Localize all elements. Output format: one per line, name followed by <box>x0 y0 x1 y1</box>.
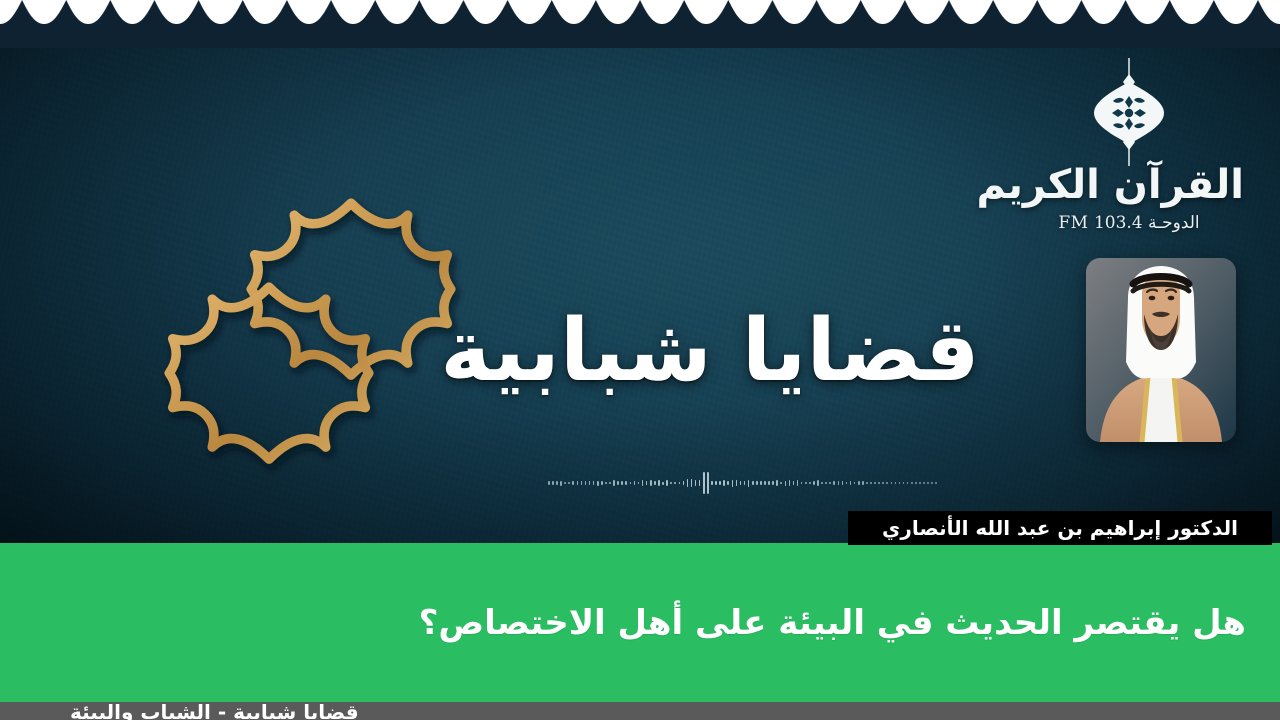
waveform-bar <box>609 482 611 484</box>
waveform-bar <box>691 479 693 487</box>
guest-name: الدكتور إبراهيم بن عبد الله الأنصاري <box>882 516 1238 540</box>
waveform-bar <box>748 480 750 487</box>
waveform-bar <box>874 482 876 484</box>
waveform-bar <box>801 482 803 484</box>
waveform-bar <box>646 481 648 484</box>
waveform-bar <box>577 481 579 485</box>
islamic-arch-border-icon <box>0 0 1280 48</box>
waveform-bar <box>846 482 848 484</box>
waveform-bar <box>727 481 729 486</box>
waveform-bar <box>589 481 591 485</box>
waveform-bar <box>931 482 933 483</box>
waveform-bar <box>670 482 672 484</box>
waveform-bar <box>560 481 562 486</box>
waveform-bar <box>838 481 840 484</box>
waveform-bar <box>552 481 554 486</box>
waveform-bar <box>662 482 664 485</box>
waveform-bar <box>548 481 550 485</box>
question-text: هل يقتصر الحديث في البيئة على أهل الاختص… <box>419 603 1280 643</box>
waveform-bar <box>772 481 774 485</box>
waveform-bar <box>842 481 844 485</box>
waveform-bar <box>654 481 656 486</box>
waveform-bar <box>625 481 627 485</box>
station-name: القرآن الكريم <box>1014 164 1244 206</box>
waveform-bar <box>809 482 811 484</box>
waveform-bar <box>821 482 823 485</box>
waveform-bar <box>695 480 697 487</box>
waveform-bar <box>854 482 856 484</box>
waveform-bar <box>858 481 860 485</box>
waveform-bar <box>564 482 566 484</box>
waveform-bar <box>744 481 746 484</box>
waveform-bar <box>732 480 734 487</box>
waveform-bar <box>703 472 705 494</box>
waveform-bar <box>829 482 831 485</box>
waveform-bar <box>935 482 937 483</box>
waveform-bar <box>903 482 905 483</box>
waveform-bar <box>899 482 901 484</box>
audio-waveform-icon <box>548 470 938 496</box>
station-frequency: الدوحـة 103.4 FM <box>1014 213 1244 233</box>
waveform-bar <box>891 482 893 483</box>
footer-bar: قضايا شبابية - الشباب والبيئة <box>0 702 1280 720</box>
waveform-bar <box>585 481 587 485</box>
waveform-bar <box>699 480 701 486</box>
waveform-bar <box>797 480 799 486</box>
video-stage: قضايا شبابية <box>0 0 1280 543</box>
waveform-bar <box>878 482 880 484</box>
waveform-bar <box>789 480 791 486</box>
waveform-bar <box>556 481 558 486</box>
waveform-bar <box>911 482 913 483</box>
waveform-bar <box>605 482 607 484</box>
show-title: قضايا شبابية <box>430 296 990 406</box>
waveform-bar <box>642 480 644 487</box>
waveform-bar <box>630 482 632 484</box>
waveform-bar <box>866 482 868 484</box>
arabesque-medallion-icon <box>1014 56 1244 168</box>
waveform-bar <box>581 481 583 484</box>
waveform-bar <box>756 481 758 486</box>
waveform-bar <box>715 481 717 486</box>
waveform-bar <box>736 480 738 486</box>
waveform-bar <box>805 482 807 485</box>
waveform-bar <box>679 482 681 484</box>
station-logo: القرآن الكريم الدوحـة 103.4 FM <box>1014 56 1244 233</box>
waveform-bar <box>621 481 623 486</box>
waveform-bar <box>687 479 689 486</box>
waveform-bar <box>752 481 754 485</box>
waveform-bar <box>740 481 742 485</box>
waveform-bar <box>666 480 668 485</box>
waveform-bar <box>862 481 864 485</box>
guest-portrait <box>1086 258 1236 442</box>
waveform-bar <box>613 480 615 486</box>
waveform-bar <box>760 481 762 485</box>
waveform-bar <box>674 482 676 485</box>
waveform-bar <box>813 481 815 485</box>
footer-label: قضايا شبابية - الشباب والبيئة <box>40 702 359 720</box>
waveform-bar <box>707 472 709 494</box>
waveform-bar <box>601 481 603 485</box>
broadcast-screen: قضايا شبابية <box>0 0 1280 720</box>
waveform-bar <box>895 482 897 484</box>
waveform-bar <box>568 482 570 485</box>
waveform-bar <box>833 481 835 486</box>
waveform-bar <box>927 482 929 483</box>
guest-name-bar: الدكتور إبراهيم بن عبد الله الأنصاري <box>848 511 1272 545</box>
waveform-bar <box>711 481 713 485</box>
waveform-bar <box>850 481 852 485</box>
waveform-bar <box>817 480 819 485</box>
waveform-bar <box>634 481 636 485</box>
waveform-bar <box>572 481 574 486</box>
waveform-bar <box>764 481 766 485</box>
waveform-bar <box>825 482 827 484</box>
waveform-bar <box>886 482 888 484</box>
waveform-bar <box>719 481 721 485</box>
waveform-bar <box>638 482 640 484</box>
waveform-bar <box>683 481 685 484</box>
waveform-bar <box>768 481 770 486</box>
waveform-bar <box>793 481 795 485</box>
waveform-bar <box>907 482 909 483</box>
waveform-bar <box>597 481 599 486</box>
waveform-bar <box>780 482 782 485</box>
waveform-bar <box>658 480 660 486</box>
waveform-bar <box>776 480 778 486</box>
waveform-bar <box>923 482 925 483</box>
waveform-bar <box>617 481 619 484</box>
waveform-bar <box>785 481 787 486</box>
waveform-bar <box>593 481 595 486</box>
waveform-bar <box>723 480 725 486</box>
waveform-bar <box>650 480 652 486</box>
waveform-bar <box>919 482 921 483</box>
waveform-bar <box>915 482 917 483</box>
question-banner: هل يقتصر الحديث في البيئة على أهل الاختص… <box>0 543 1280 702</box>
waveform-bar <box>882 482 884 484</box>
waveform-bar <box>870 482 872 484</box>
